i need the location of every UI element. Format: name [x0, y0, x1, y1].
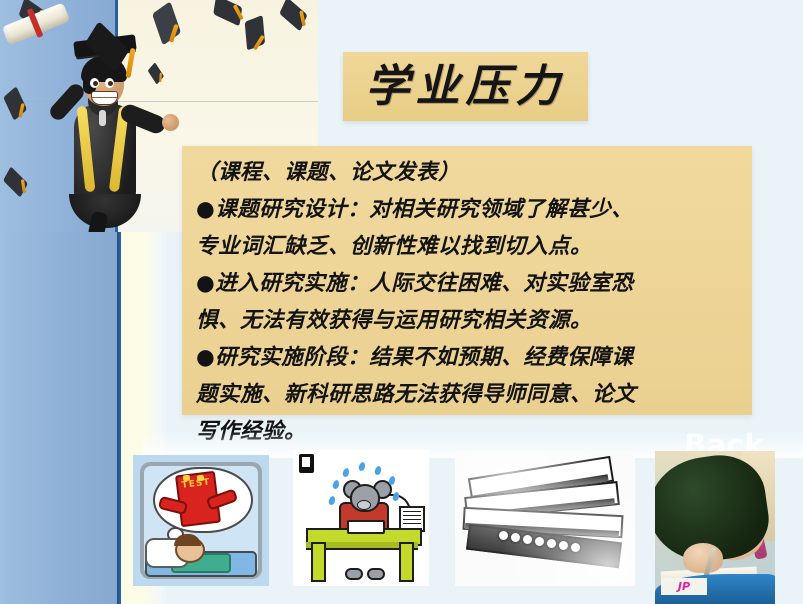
graduate-cap [73, 34, 136, 57]
slide-title: 学业压力 [343, 52, 588, 121]
body-line: 题实施、新科研思路无法获得导师同意、论文 [196, 376, 738, 413]
book-eye-right [197, 475, 205, 482]
graduate-right-hand [162, 114, 179, 131]
sweat-drop [342, 467, 350, 477]
slide-canvas: 学业压力 （课程、课题、论文发表） ●课题研究设计：对相关研究领域了解甚少、 专… [0, 0, 803, 604]
body-line: 惧、无法有效获得与运用研究相关资源。 [196, 302, 738, 339]
slide-title-box: 学业压力 [343, 52, 588, 121]
keyboard [347, 520, 385, 534]
student-hand [683, 543, 723, 573]
thumb3-highlight [455, 451, 635, 586]
body-line: ●研究实施阶段：结果不如预期、经费保障课 [196, 339, 738, 376]
image-nightmare-test: TEST [133, 455, 269, 586]
image-student-writing: JP [655, 451, 775, 604]
body-line: 专业词汇缺乏、创新性难以找到切入点。 [196, 228, 738, 265]
sweat-drop [374, 465, 382, 475]
sweat-drop [328, 495, 336, 505]
graduate-character [58, 36, 154, 222]
graduation-cap-icon [2, 170, 31, 191]
slide-body-box: （课程、课题、论文发表） ●课题研究设计：对相关研究领域了解甚少、 专业词汇缺乏… [182, 146, 752, 415]
body-line: ●进入研究实施：人际交往困难、对实验室恐 [196, 265, 738, 302]
image-stressed-mouse [293, 450, 429, 586]
desk-leg-left [311, 542, 326, 582]
image-book-stack-bw [455, 451, 635, 586]
body-line: （课程、课题、论文发表） [196, 154, 738, 191]
mouse-foot-left [345, 568, 363, 580]
graduate-pupil-right [108, 81, 113, 86]
photo-watermark: JP [661, 578, 707, 595]
mouse-foot-right [367, 568, 385, 580]
body-line: ●课题研究设计：对相关研究领域了解甚少、 [196, 191, 738, 228]
desk-leg-right [399, 542, 414, 582]
graduate-tie [99, 110, 106, 126]
artwork-horizon-line [0, 101, 318, 102]
mouse-snout [357, 500, 371, 510]
book-eye-left [183, 475, 191, 482]
sweat-drop [388, 475, 396, 485]
graduate-smile [91, 91, 118, 105]
page-icon [299, 454, 314, 473]
photo-watermark-label: JP [661, 578, 707, 595]
sweat-drop [332, 479, 340, 489]
graduate-pupil-left [93, 81, 98, 86]
sweat-drop [358, 461, 366, 471]
